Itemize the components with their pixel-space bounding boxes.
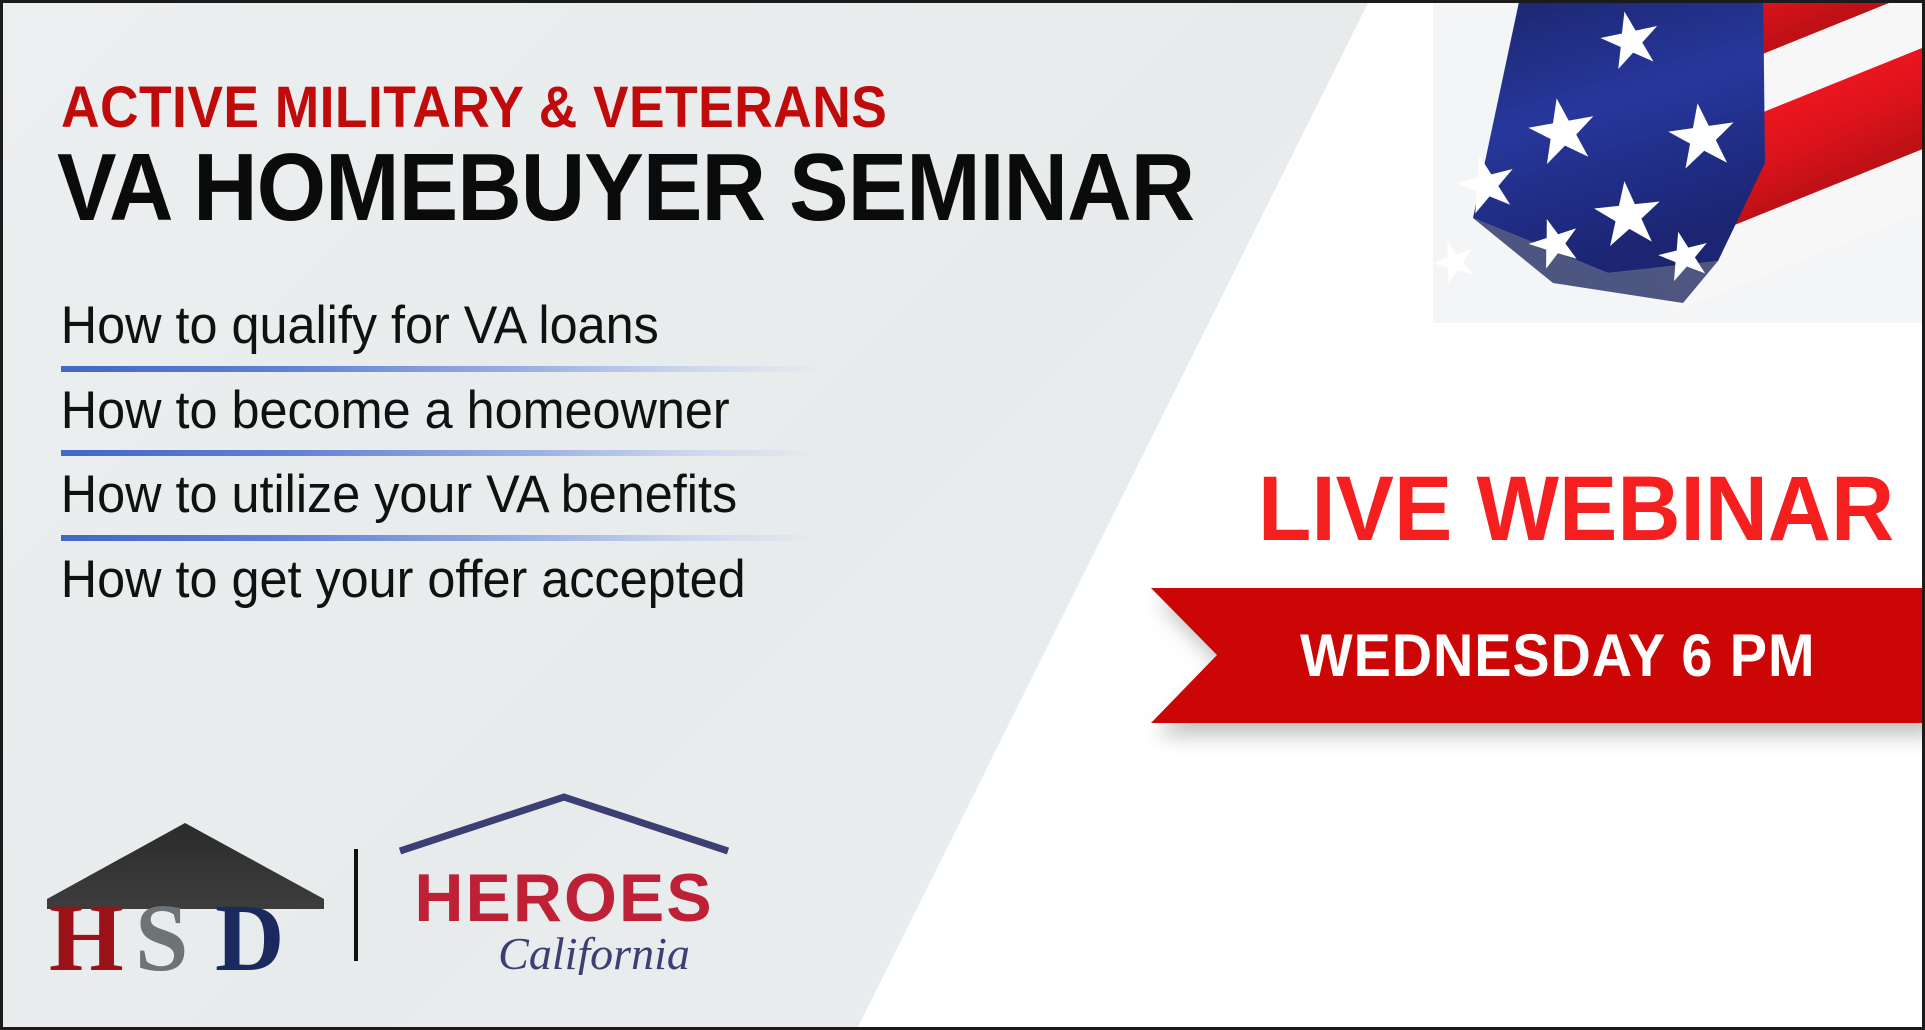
svg-text:D: D [215,884,284,975]
ribbon-label: WEDNESDAY 6 PM [1300,626,1815,686]
hsd-logo: H S D [43,815,328,975]
list-item-label: How to get your offer accepted [57,543,950,620]
benefits-list: How to qualify for VA loans How to becom… [57,289,997,619]
list-item: How to qualify for VA loans [57,289,997,366]
ribbon-shape: WEDNESDAY 6 PM [1151,588,1925,723]
svg-text:California: California [498,928,690,975]
svg-text:HEROES: HEROES [414,860,713,936]
schedule-ribbon: WEDNESDAY 6 PM [1151,588,1925,723]
logo-row: H S D HEROES California [43,793,734,975]
list-item-label: How to qualify for VA loans [57,289,950,366]
live-webinar-headline: LIVE WEBINAR [1258,463,1894,555]
list-divider [61,366,821,372]
svg-text:S: S [135,884,188,975]
usa-flag-icon [1433,3,1925,323]
eyebrow-text: ACTIVE MILITARY & VETERANS [61,79,887,137]
list-item: How to become a homeowner [57,374,997,451]
logo-separator [354,849,358,961]
list-item-label: How to become a homeowner [57,374,950,451]
list-item-label: How to utilize your VA benefits [57,458,950,535]
heroes-california-logo: HEROES California [394,793,734,975]
va-homebuyer-seminar-banner: ACTIVE MILITARY & VETERANS VA HOMEBUYER … [0,0,1925,1030]
list-item: How to utilize your VA benefits [57,458,997,535]
list-divider [61,450,821,456]
svg-text:H: H [49,884,124,975]
list-divider [61,535,821,541]
page-title: VA HOMEBUYER SEMINAR [57,140,1194,236]
list-item: How to get your offer accepted [57,543,997,620]
